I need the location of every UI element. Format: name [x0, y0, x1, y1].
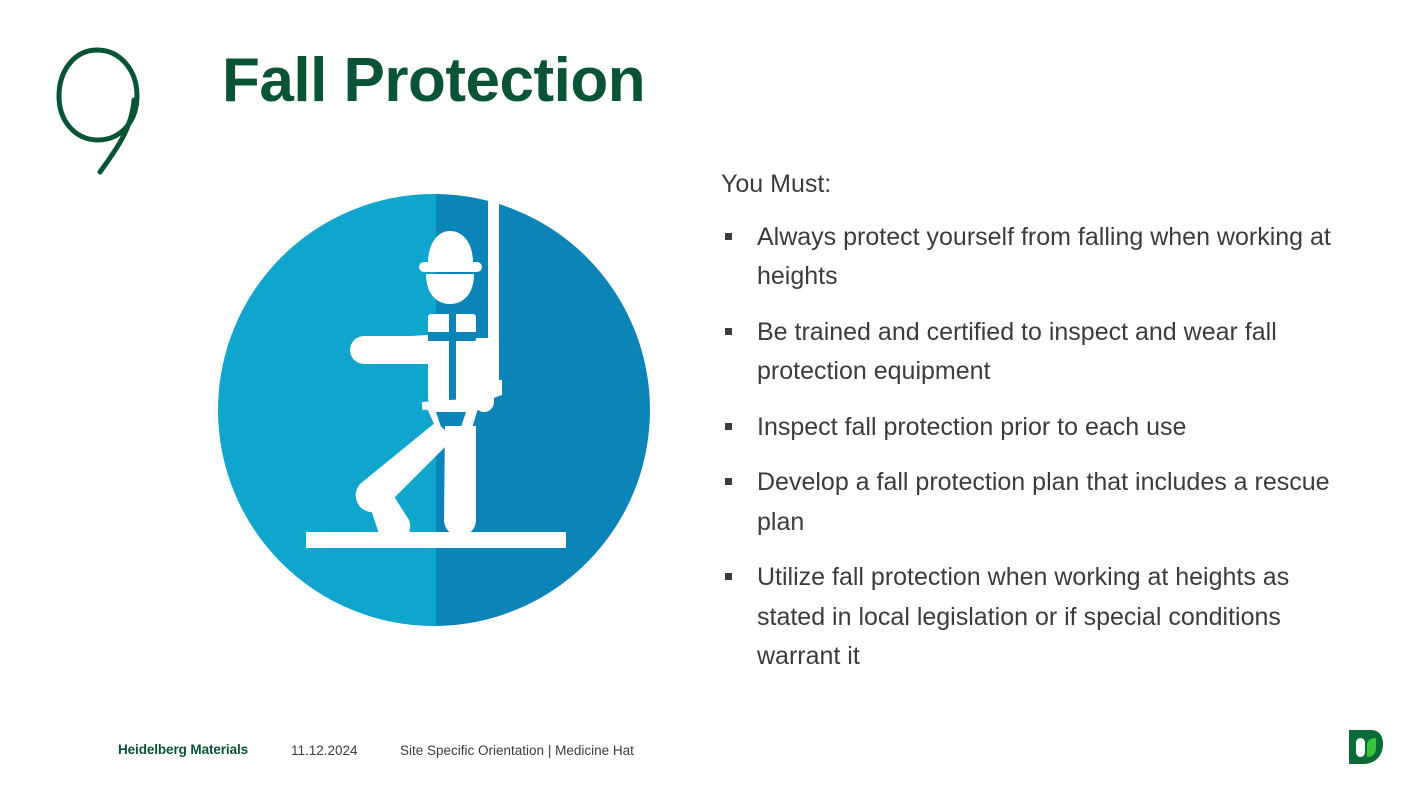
list-item-label: Inspect fall protection prior to each us…: [757, 413, 1186, 441]
list-item-label: Develop a fall protection plan that incl…: [757, 468, 1330, 536]
bullet-square-icon: [725, 423, 732, 430]
slide-canvas: Fall Protection: [0, 0, 1425, 802]
slide-number-9: [42, 38, 152, 178]
footer-date: 11.12.2024: [291, 743, 358, 758]
content-panel: You Must: Always protect yourself from f…: [721, 168, 1361, 693]
list-item: Utilize fall protection when working at …: [721, 558, 1361, 677]
bullet-square-icon: [725, 573, 732, 580]
bullet-square-icon: [725, 478, 732, 485]
requirements-list: Always protect yourself from falling whe…: [721, 218, 1361, 677]
list-item: Always protect yourself from falling whe…: [721, 218, 1361, 297]
list-item-label: Utilize fall protection when working at …: [757, 563, 1289, 670]
lead-text: You Must:: [721, 168, 1361, 202]
list-item: Develop a fall protection plan that incl…: [721, 463, 1361, 542]
heidelberg-materials-logo-icon: [1345, 726, 1387, 768]
footer-meta: Site Specific Orientation | Medicine Hat: [400, 743, 634, 758]
list-item-label: Always protect yourself from falling whe…: [757, 223, 1331, 291]
bullet-square-icon: [725, 328, 732, 335]
bullet-square-icon: [725, 233, 732, 240]
footer-brand: Heidelberg Materials: [118, 742, 248, 757]
list-item: Inspect fall protection prior to each us…: [721, 408, 1361, 448]
slide-footer: Heidelberg Materials 11.12.2024 Site Spe…: [0, 742, 1425, 772]
page-title: Fall Protection: [222, 47, 645, 115]
list-item-label: Be trained and certified to inspect and …: [757, 318, 1277, 386]
list-item: Be trained and certified to inspect and …: [721, 313, 1361, 392]
fall-protection-worker-harness-icon: [214, 190, 654, 630]
